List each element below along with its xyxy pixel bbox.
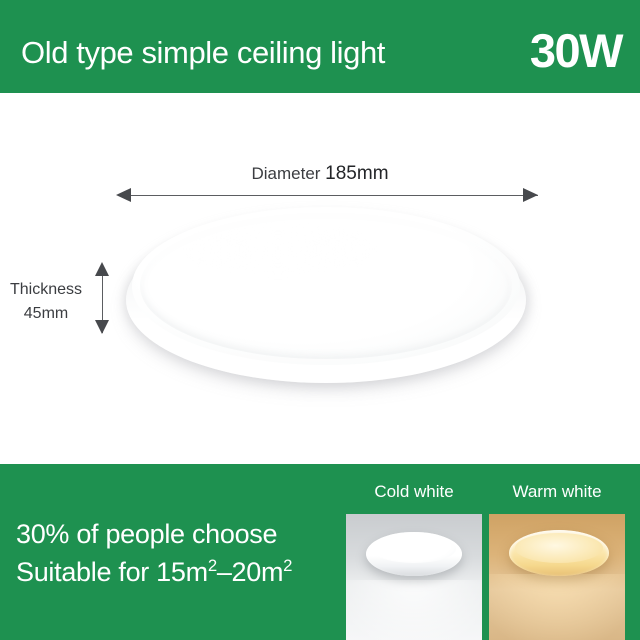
diameter-value-text: 185mm bbox=[325, 163, 388, 184]
page-title: Old type simple ceiling light bbox=[21, 34, 385, 72]
footer-line-room-size: Suitable for 15m2–20m2 bbox=[16, 553, 292, 591]
cold-white-lamp-image bbox=[366, 532, 462, 576]
wattage-badge: 30W bbox=[530, 24, 622, 78]
color-option-thumbnail-cold-white[interactable] bbox=[346, 514, 482, 640]
dimension-arrow-up-icon bbox=[95, 262, 109, 276]
dimension-arrow-down-icon bbox=[95, 320, 109, 334]
diameter-dimension-line bbox=[118, 195, 538, 196]
thickness-dimension-label: Thickness 45mm bbox=[2, 278, 90, 326]
footer-marketing-copy: 30% of people choose Suitable for 15m2–2… bbox=[16, 515, 292, 591]
thickness-label-text: Thickness bbox=[2, 278, 90, 302]
footer-banner: 30% of people choose Suitable for 15m2–2… bbox=[0, 464, 640, 640]
room-size-sup-2: 2 bbox=[283, 556, 292, 575]
dimension-arrow-right-icon bbox=[523, 188, 538, 202]
diameter-dimension-label: Diameter 185mm bbox=[0, 163, 640, 185]
header-banner: Old type simple ceiling light 30W bbox=[0, 0, 640, 93]
thickness-value-text: 45mm bbox=[2, 302, 90, 326]
room-size-sup-1: 2 bbox=[208, 556, 217, 575]
color-option-label-warm-white: Warm white bbox=[489, 482, 625, 502]
lamp-gloss-highlight bbox=[178, 223, 378, 275]
dimension-arrow-left-icon bbox=[116, 188, 131, 202]
diameter-label-text: Diameter bbox=[251, 164, 320, 183]
ceiling-light-product-image bbox=[118, 203, 536, 393]
product-illustration-area: Diameter 185mm Thickness 45mm bbox=[0, 93, 640, 464]
room-size-prefix: Suitable for 15m bbox=[16, 557, 208, 587]
warm-white-lamp-image bbox=[509, 530, 609, 576]
room-size-mid: –20m bbox=[217, 557, 283, 587]
footer-line-percentage: 30% of people choose bbox=[16, 515, 292, 553]
color-option-thumbnail-warm-white[interactable] bbox=[489, 514, 625, 640]
color-option-label-cold-white: Cold white bbox=[346, 482, 482, 502]
product-infographic: Old type simple ceiling light 30W Diamet… bbox=[0, 0, 640, 640]
